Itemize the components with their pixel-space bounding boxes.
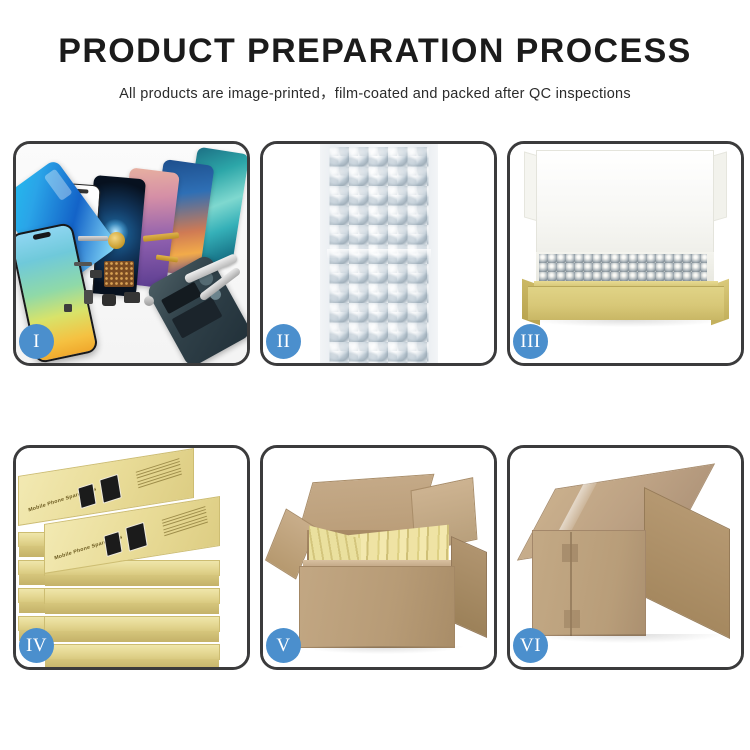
box-shadow	[534, 320, 720, 327]
page-subtitle: All products are image-printed，film-coat…	[0, 82, 750, 103]
carton-side-right	[644, 487, 730, 639]
small-ic-chip	[90, 270, 102, 278]
process-panel-3: III	[507, 141, 744, 366]
panel-1-image	[16, 144, 247, 363]
panel-3-image	[510, 144, 741, 363]
gold-connector	[156, 254, 178, 262]
step-badge-6: VI	[513, 628, 548, 663]
phone-screen-print	[77, 483, 96, 509]
panel-5-image	[263, 448, 494, 667]
white-box-lid	[536, 150, 714, 258]
brown-carton-sealed	[532, 530, 646, 636]
yellow-printed-box	[44, 644, 220, 660]
carton-side-right	[451, 536, 487, 638]
step-badge-5: V	[266, 628, 301, 663]
product-preparation-infographic: PRODUCT PREPARATION PROCESS All products…	[0, 0, 750, 750]
panel-4-image: Mobile Phone Spare Parts Mobile Phone Sp…	[16, 448, 247, 667]
box-lid-spec-lines	[162, 506, 208, 538]
yellow-printed-box	[44, 588, 220, 604]
speaker-module	[102, 294, 116, 306]
screw-part	[64, 304, 72, 312]
panel-6-image	[510, 448, 741, 667]
carton-tab-upper	[562, 544, 578, 562]
panel-2-image	[263, 144, 494, 363]
process-step-grid: I II	[13, 141, 744, 670]
header: PRODUCT PREPARATION PROCESS All products…	[0, 0, 750, 103]
metal-bracket	[78, 236, 108, 241]
carton-tab-lower	[564, 610, 580, 628]
step-badge-4: IV	[19, 628, 54, 663]
yellow-box-stack: Mobile Phone Spare Parts Mobile Phone Sp…	[16, 448, 247, 667]
gold-coil-part	[108, 232, 125, 249]
process-panel-4: Mobile Phone Spare Parts Mobile Phone Sp…	[13, 445, 250, 670]
box-side	[45, 631, 219, 642]
home-button-part	[144, 296, 154, 306]
step-badge-3: III	[513, 324, 548, 359]
brown-carton	[299, 566, 455, 648]
screw-tray	[104, 261, 134, 287]
carton-shadow	[534, 634, 724, 643]
step-badge-2: II	[266, 324, 301, 359]
box-side	[45, 575, 219, 586]
process-panel-5: V	[260, 445, 497, 670]
process-panel-6: VI	[507, 445, 744, 670]
camera-module	[84, 290, 93, 304]
process-panel-2: II	[260, 141, 497, 366]
process-panel-1: I	[13, 141, 250, 366]
small-spare-parts	[16, 144, 247, 363]
antenna-strip	[74, 262, 92, 266]
phone-screen-print	[103, 531, 122, 557]
box-side	[45, 659, 219, 667]
vibrator-module	[124, 292, 140, 303]
phone-screen-print	[125, 522, 148, 552]
box-lid-spec-lines	[136, 458, 182, 490]
box-side	[45, 603, 219, 614]
flex-cable	[143, 232, 179, 242]
yellow-inner-box	[528, 286, 724, 320]
carton-shadow	[303, 646, 463, 654]
step-badge-1: I	[19, 324, 54, 359]
yellow-printed-box	[44, 616, 220, 632]
bubble-wrap-fold	[327, 249, 431, 258]
page-title: PRODUCT PREPARATION PROCESS	[0, 34, 750, 70]
phone-screen-print	[99, 474, 122, 504]
